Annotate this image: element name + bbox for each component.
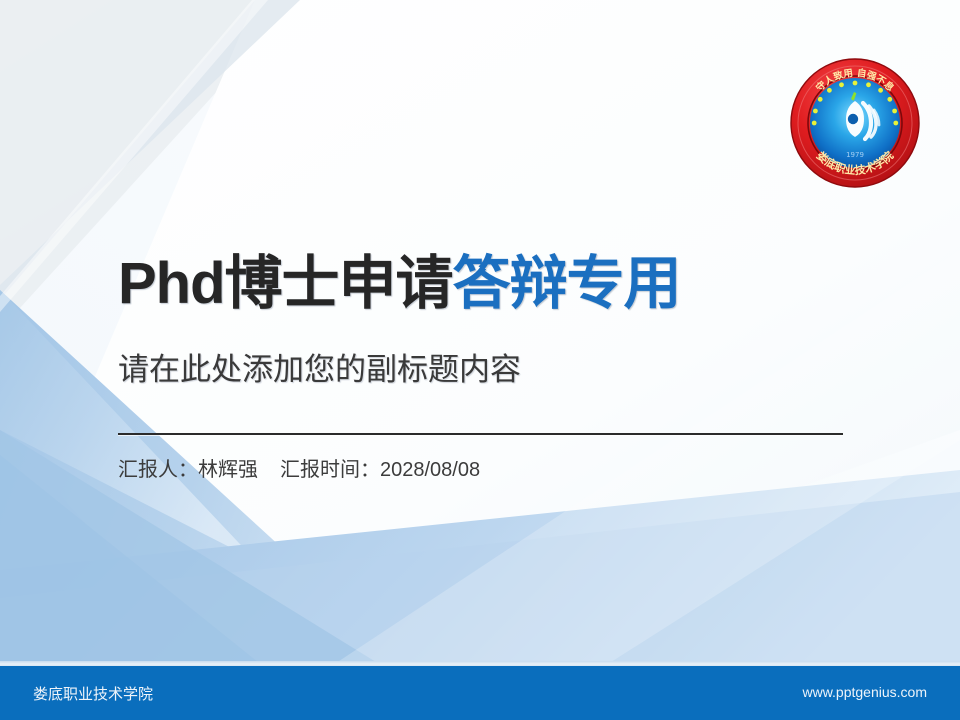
- slide-title: Phd博士申请答辩专用: [118, 254, 681, 315]
- footer-institution-label: 娄底职业技术学院: [33, 683, 153, 704]
- logo-year-text: 1979: [846, 151, 864, 159]
- school-logo-emblem: 守人致用 自强不息 娄底职业技术学院 1979: [789, 57, 921, 189]
- title-divider-rule: [118, 433, 843, 435]
- footer-website-link[interactable]: www.pptgenius.com: [802, 684, 927, 700]
- presenter-label: 汇报人：林辉强: [118, 459, 258, 481]
- school-logo: 守人致用 自强不息 娄底职业技术学院 1979: [789, 57, 921, 189]
- presentation-slide: 守人致用 自强不息 娄底职业技术学院 1979 Phd博士申请答辩专用 请在此处…: [0, 0, 960, 720]
- title-accent-text: 答辩专用: [453, 251, 681, 316]
- report-date-label: 汇报时间：2028/08/08: [280, 459, 480, 481]
- title-main-text: Phd博士申请: [118, 251, 453, 316]
- slide-subtitle: 请在此处添加您的副标题内容: [118, 351, 521, 388]
- slide-footer-bar: 娄底职业技术学院 www.pptgenius.com: [0, 666, 960, 720]
- slide-meta-line: 汇报人：林辉强汇报时间：2028/08/08: [118, 453, 480, 482]
